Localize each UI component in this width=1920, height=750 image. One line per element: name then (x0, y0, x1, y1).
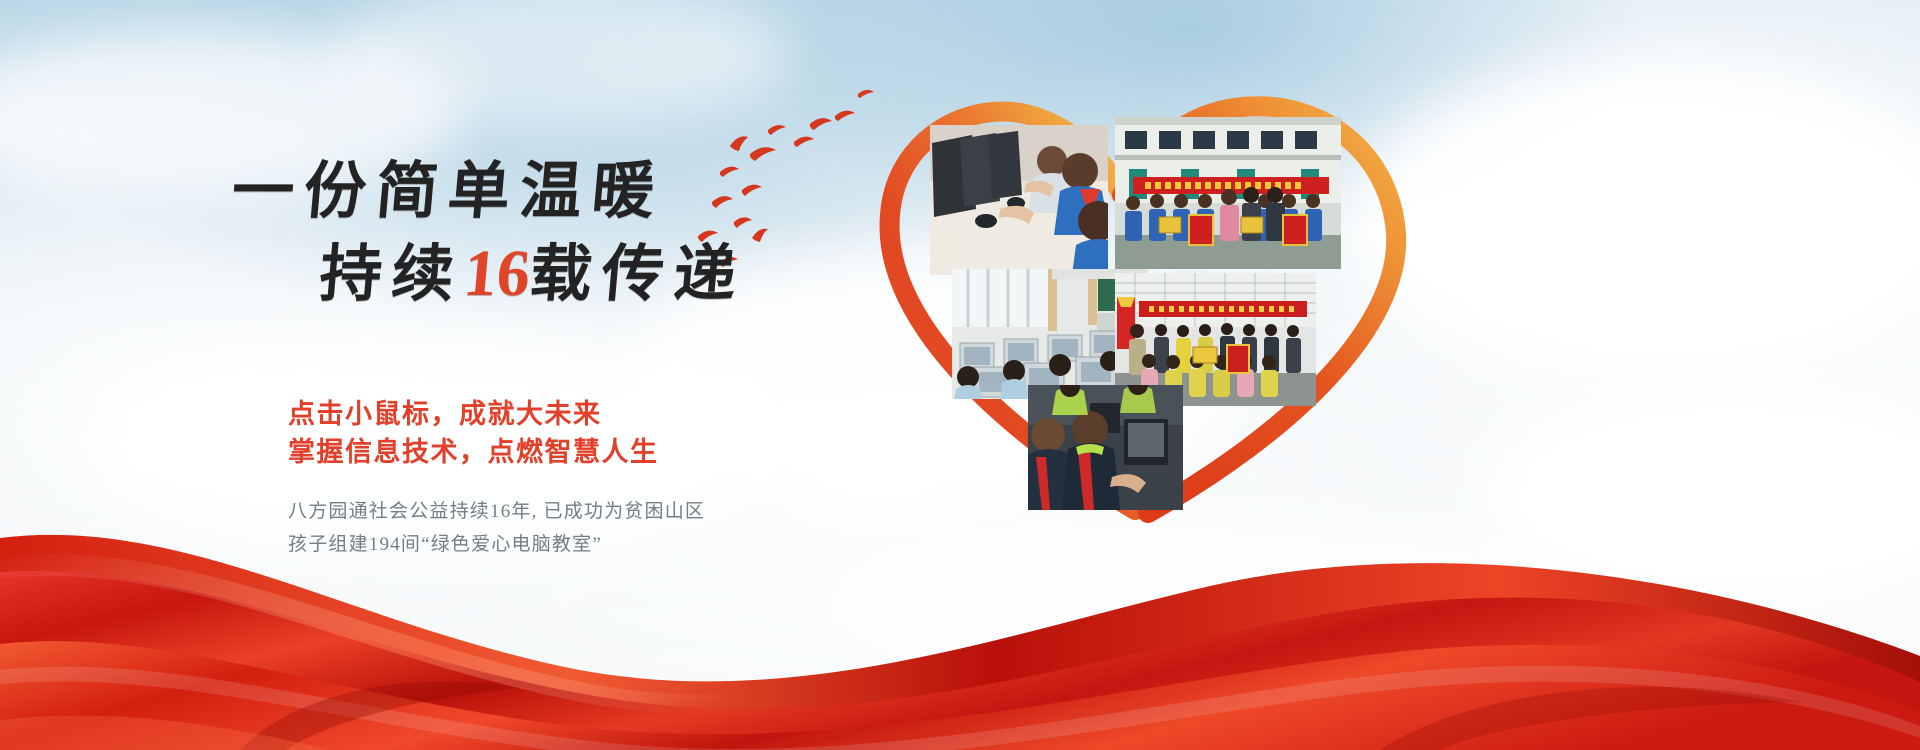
photo-computer-lab-students[interactable] (930, 125, 1108, 275)
headline-line-2: 持续16载传递 (317, 239, 755, 308)
headline-suffix: 载传递 (527, 241, 749, 309)
red-silk-ribbon-icon (0, 420, 1920, 750)
photo-school-donation-ceremony[interactable] (1115, 117, 1341, 269)
headline-prefix: 持续 (317, 241, 467, 309)
headline-block: 一份简单温暖 持续16载传递 (232, 160, 752, 308)
headline-year-count: 16 (461, 237, 533, 310)
charity-banner: 一份简单温暖 持续16载传递 点击小鼠标，成就大未来 掌握信息技术，点燃智慧人生… (0, 0, 1920, 750)
headline-line-1: 一份简单温暖 (229, 160, 755, 225)
